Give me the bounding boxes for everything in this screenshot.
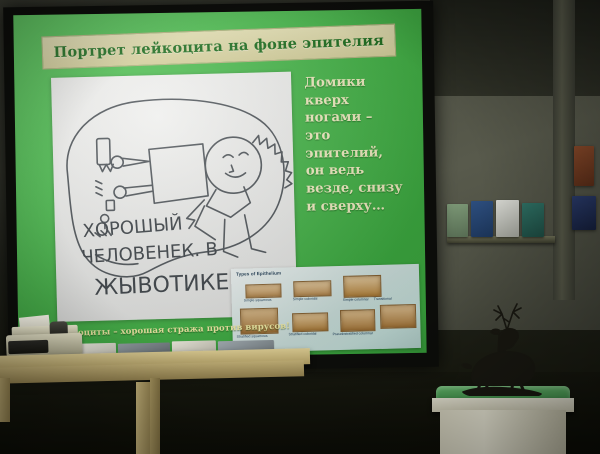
wall-poster-upper — [574, 146, 594, 186]
pedestal-body — [440, 410, 566, 454]
typewriter-keys — [8, 340, 48, 354]
desk-side-panel — [150, 378, 160, 454]
book-item — [522, 203, 544, 237]
side-text-line: везде, снизу — [306, 179, 427, 199]
side-text-line: Домики — [304, 73, 426, 93]
desk-leg-left — [0, 378, 10, 422]
wall-pillar — [553, 0, 575, 300]
side-text-line: это — [305, 126, 427, 146]
svg-text:ЖЫВОТИКЕ: ЖЫВОТИКЕ — [94, 270, 230, 301]
side-text-line: и сверху… — [306, 197, 426, 217]
book-item — [496, 200, 519, 237]
epi-cell-simple-cuboidal: Simple cuboidal — [293, 280, 331, 297]
wall-shelf — [447, 236, 555, 243]
book-item — [447, 204, 468, 237]
side-text-line: ногами – — [305, 108, 427, 128]
deer-statuette — [455, 300, 565, 396]
book-item — [471, 201, 493, 237]
wall-poster-lower — [572, 196, 596, 230]
classroom-scene: Портрет лейкоцита на фоне эпителия — [0, 0, 600, 454]
slide-side-text: Домики кверх ногами – это эпителий, он в… — [304, 73, 426, 216]
side-text-line: он ведь — [306, 161, 427, 181]
shelf-books-group — [447, 196, 559, 237]
epi-cell-transitional: Transitional — [380, 304, 417, 329]
epi-label: Simple columnar — [343, 297, 369, 302]
epi-label: Simple cuboidal — [293, 297, 318, 302]
svg-text:ХОРОШЫЙ: ХОРОШЫЙ — [82, 212, 184, 242]
side-text-line: кверх — [305, 90, 427, 110]
deer-statuette-svg — [455, 300, 565, 396]
epi-label: Pseudostratified columnar — [333, 331, 374, 336]
svg-text:ЧЕЛОВЕНЕК. В: ЧЕЛОВЕНЕК. В — [81, 239, 219, 268]
epi-cell-simple-columnar: Simple columnar — [343, 275, 382, 298]
presentation-slide: Портрет лейкоцита на фоне эпителия — [13, 9, 426, 359]
slide-title-banner: Портрет лейкоцита на фоне эпителия — [41, 24, 396, 70]
epi-label: Simple squamous — [244, 298, 272, 303]
slide-title: Портрет лейкоцита на фоне эпителия — [53, 32, 384, 61]
side-text-line: эпителий, — [305, 143, 426, 163]
epi-cell-simple-squamous: Simple squamous — [245, 284, 281, 299]
vintage-typewriter — [5, 317, 82, 360]
epi-label: Transitional — [374, 297, 392, 301]
epithelium-diagram-title: Types of Epithelium — [236, 271, 281, 277]
